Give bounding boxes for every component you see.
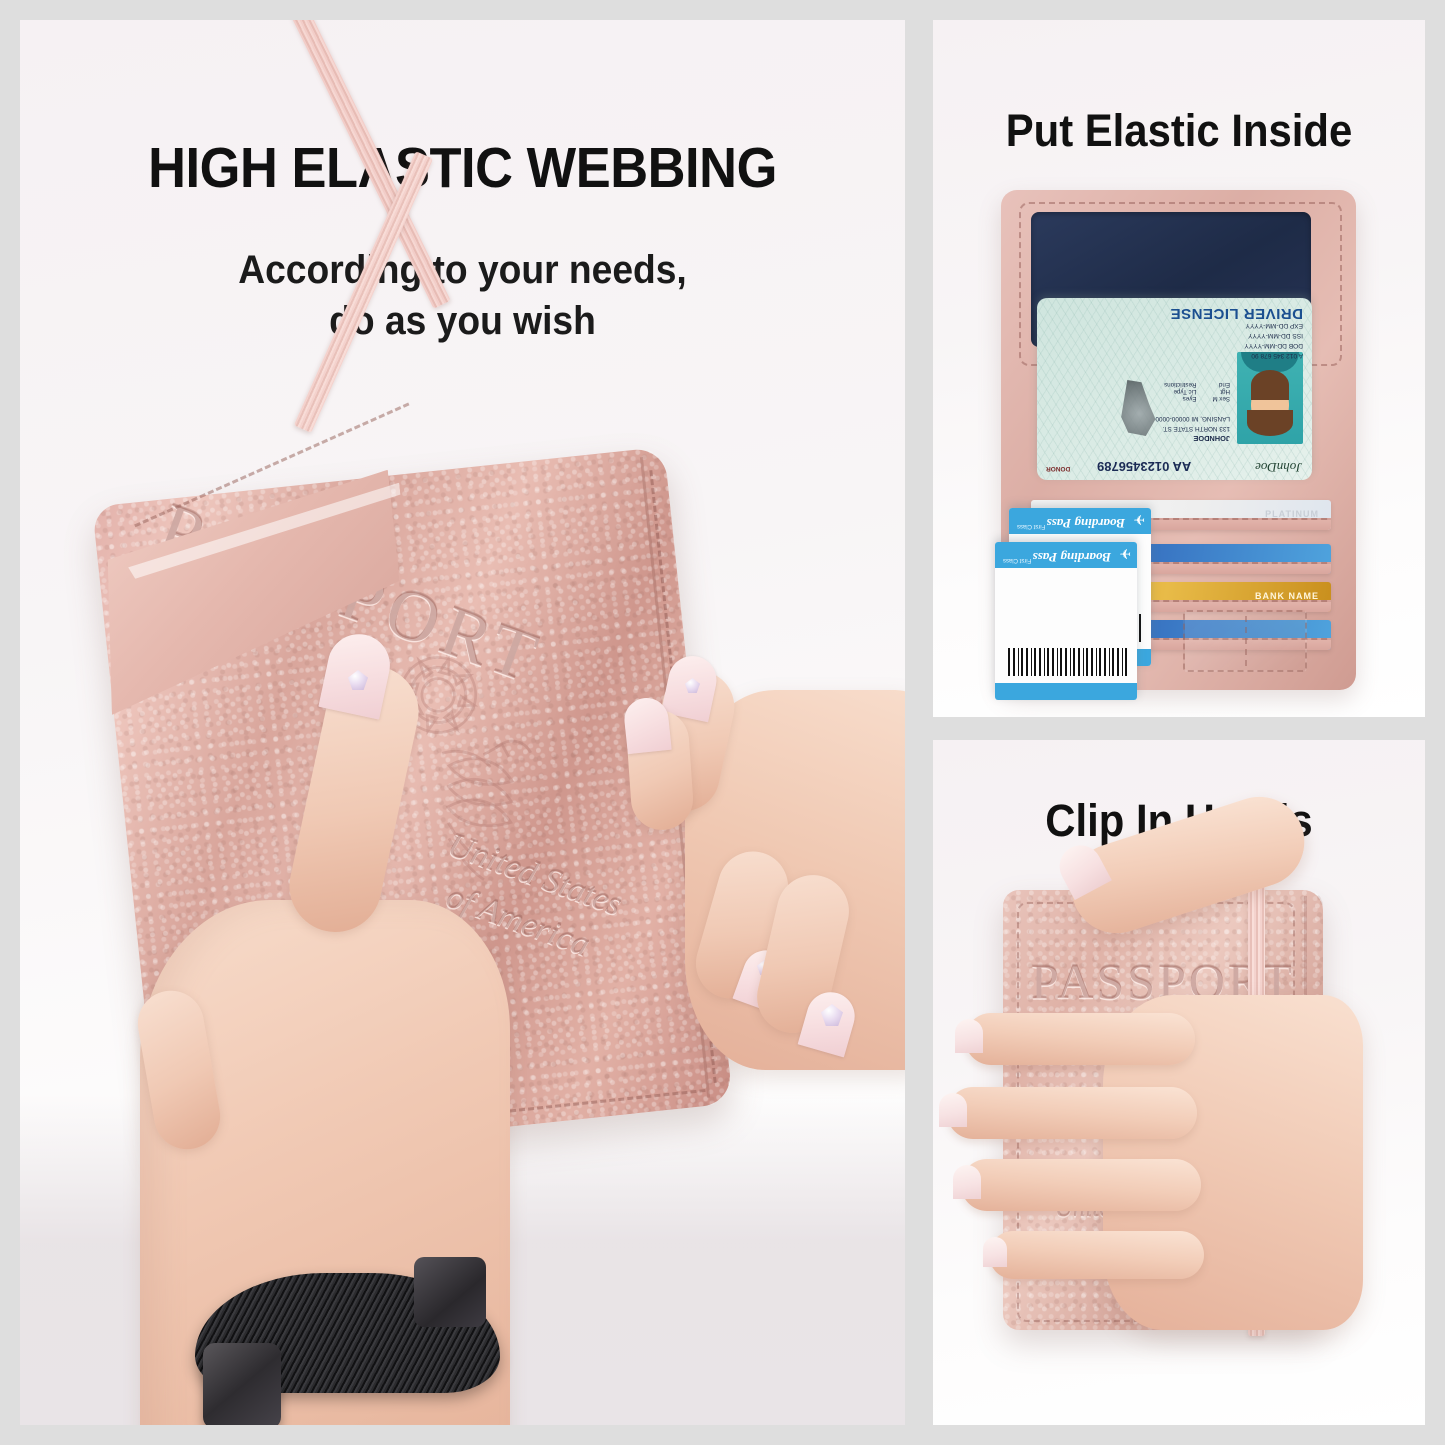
- portrait-hair: [1247, 410, 1293, 436]
- dl-attribute-grid: Sex M Hgt End Eyes Lic Type Restrictions: [1045, 381, 1230, 402]
- open-passport-wallet: DRIVER LICENSE AA 0123456789 JohnDoe DON…: [1001, 190, 1356, 690]
- main-subheadline-line1: According to your needs,: [51, 245, 874, 296]
- boarding-pass-top-bar: [995, 683, 1137, 700]
- dl-donor-flag: DONOR: [1046, 465, 1070, 472]
- watch-case: [203, 1343, 281, 1425]
- drivers-license-card: DRIVER LICENSE AA 0123456789 JohnDoe DON…: [1037, 298, 1312, 480]
- dl-dates: A 012 345 678 90 DOB DD-MM-YYYY ISS DD-M…: [1244, 320, 1303, 360]
- boarding-pass-bottom-bar: ✈ Boarding Pass First Class: [995, 542, 1137, 568]
- dl-signature: JohnDoe: [1255, 459, 1302, 475]
- dl-attr-col2: Eyes Lic Type Restrictions: [1164, 381, 1196, 402]
- watch-clasp: [414, 1257, 486, 1327]
- dl-license-number: A 012 345 678 90: [1244, 350, 1303, 360]
- main-headline: HIGH ELASTIC WEBBING: [55, 135, 869, 201]
- hand-pulling-elastic: [645, 660, 905, 1080]
- airplane-icon: ✈: [1119, 547, 1131, 561]
- dl-iss: ISS DD-MM-YYYY: [1244, 330, 1303, 340]
- dl-field-hgt: Hgt: [1212, 388, 1230, 395]
- dl-field-sex: Sex M: [1212, 395, 1230, 402]
- dl-dob: DOB DD-MM-YYYY: [1244, 340, 1303, 350]
- dl-holder-details: JOHNDOE 133 NORTH STATE ST. LANSING, MI …: [1045, 414, 1230, 444]
- fingernail: [983, 1237, 1007, 1267]
- main-subheadline: According to your needs, do as you wish: [51, 245, 874, 347]
- wristwatch: [195, 1245, 500, 1425]
- dl-field-restrictions: Restrictions: [1164, 381, 1196, 388]
- boarding-pass-title: Boarding Pass: [1047, 515, 1125, 531]
- dl-address-line1: 133 NORTH STATE ST.: [1045, 423, 1230, 433]
- dl-field-lic-type: Lic Type: [1164, 388, 1196, 395]
- boarding-pass-subtitle: First Class: [1017, 523, 1045, 529]
- boarding-pass-bottom-bar: ✈ Boarding Pass First Class: [1009, 508, 1151, 534]
- index-finger: [965, 1013, 1195, 1065]
- boarding-pass-2: ✈ Boarding Pass First Class: [995, 542, 1137, 700]
- put-elastic-inside-panel: Put Elastic Inside DRIVER LICENSE AA 012…: [933, 20, 1425, 717]
- dl-exp: EXP DD-MM-YYYY: [1244, 320, 1303, 330]
- top-right-heading: Put Elastic Inside: [950, 105, 1408, 157]
- middle-finger: [947, 1087, 1197, 1139]
- dl-name: JOHNDOE: [1045, 433, 1230, 444]
- main-feature-panel: HIGH ELASTIC WEBBING According to your n…: [20, 20, 905, 1425]
- ring-finger: [961, 1159, 1201, 1211]
- dl-address-line2: LANSING, MI 00000-0000: [1045, 414, 1230, 424]
- empty-card-pockets: [1183, 610, 1307, 672]
- product-collage: HIGH ELASTIC WEBBING According to your n…: [0, 0, 1445, 1445]
- dl-field-end: End: [1212, 381, 1230, 388]
- fingernail: [939, 1093, 967, 1127]
- barcode: [1007, 648, 1127, 676]
- airplane-icon: ✈: [1133, 513, 1145, 527]
- fingernail: [953, 1165, 981, 1199]
- boarding-pass-title: Boarding Pass: [1033, 549, 1111, 565]
- little-finger: [989, 1231, 1204, 1279]
- main-subheadline-line2: do as you wish: [51, 296, 874, 347]
- dl-document-number: AA 0123456789: [1097, 459, 1191, 474]
- clip-in-hands-panel: Clip In Hands PASSPORT United States of …: [933, 740, 1425, 1425]
- portrait-beard: [1251, 370, 1289, 400]
- dl-field-eyes: Eyes: [1164, 395, 1196, 402]
- boarding-pass-subtitle: First Class: [1003, 557, 1031, 563]
- dl-portrait-photo: [1237, 352, 1303, 444]
- fingernail: [955, 1019, 983, 1053]
- dl-attr-col1: Sex M Hgt End: [1212, 381, 1230, 402]
- hand-gripping-wallet: [943, 995, 1363, 1335]
